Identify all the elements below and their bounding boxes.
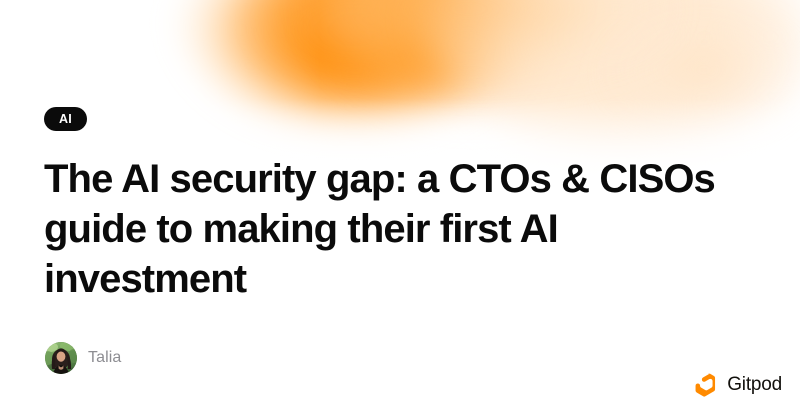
author-row: Talia <box>45 342 121 374</box>
gradient-blob-wash <box>250 0 770 170</box>
gradient-blob-lobe <box>405 0 800 165</box>
page-title: The AI security gap: a CTOs & CISOs guid… <box>44 154 744 304</box>
gitpod-logo-icon <box>694 372 720 398</box>
gradient-blob-curl <box>600 10 800 160</box>
gradient-blob-core <box>170 0 540 140</box>
blog-post-social-card: AI The AI security gap: a CTOs & CISOs g… <box>0 0 800 420</box>
gradient-blob-tail <box>300 0 720 120</box>
brand-logo[interactable]: Gitpod <box>694 372 782 398</box>
author-avatar-photo <box>45 342 77 374</box>
category-badge[interactable]: AI <box>44 107 87 131</box>
brand-name: Gitpod <box>727 374 782 396</box>
author-name: Talia <box>88 349 121 367</box>
